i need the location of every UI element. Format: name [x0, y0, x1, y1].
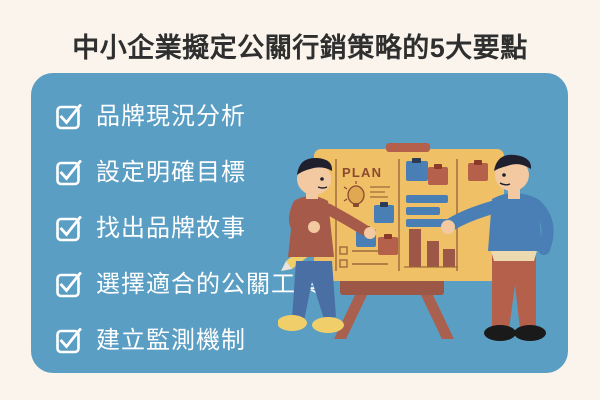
checkbox-checked-icon[interactable]: [55, 160, 82, 187]
checkbox-checked-icon[interactable]: [55, 328, 82, 355]
checkbox-checked-icon[interactable]: [55, 272, 82, 299]
content-card: 品牌現況分析 設定明確目標 找出品牌故事: [31, 73, 568, 373]
board-plan-text: PLAN: [342, 165, 382, 180]
checkbox-checked-icon[interactable]: [55, 216, 82, 243]
poster-root: 中小企業擬定公關行銷策略的5大要點 品牌現況分析: [0, 0, 600, 400]
illustration-two-people-planning-board: PLAN: [278, 143, 568, 373]
list-item[interactable]: 品牌現況分析: [55, 91, 355, 143]
easel-stand: [334, 279, 454, 339]
page-title: 中小企業擬定公關行銷策略的5大要點: [0, 26, 600, 65]
list-item-label: 設定明確目標: [96, 161, 246, 185]
checkbox-checked-icon[interactable]: [55, 104, 82, 131]
list-item-label: 找出品牌故事: [96, 217, 246, 241]
list-item-label: 建立監測機制: [96, 329, 246, 353]
list-item-label: 品牌現況分析: [96, 105, 246, 129]
